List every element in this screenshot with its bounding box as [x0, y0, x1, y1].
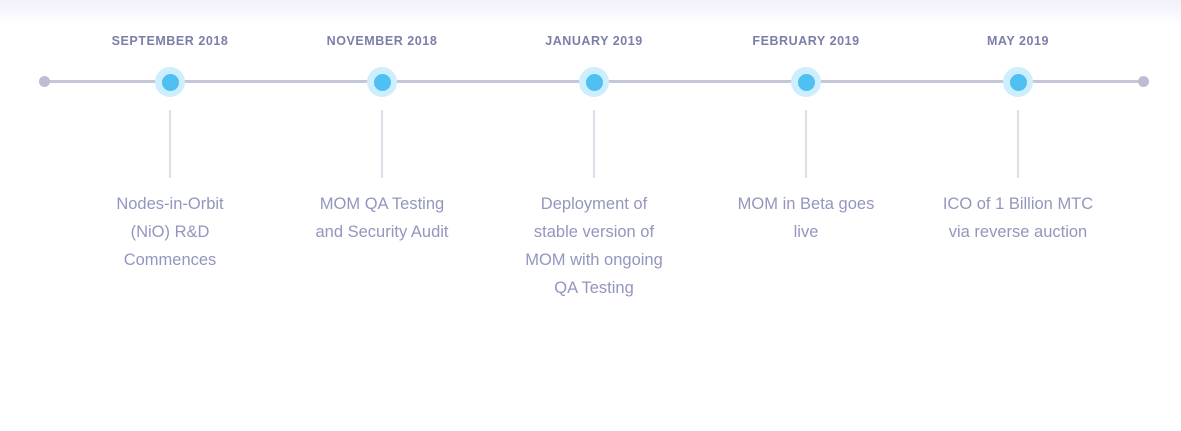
- milestone-description-line: MOM with ongoing: [494, 246, 694, 274]
- milestone-description: Nodes-in-Orbit(NiO) R&DCommences: [64, 190, 276, 274]
- milestone-description: MOM QA Testingand Security Audit: [276, 190, 488, 246]
- milestone-date: MAY 2019: [912, 34, 1124, 48]
- milestone-node-core-icon: [798, 74, 815, 91]
- milestone-node-icon[interactable]: [579, 67, 609, 97]
- roadmap-timeline: SEPTEMBER 2018Nodes-in-Orbit(NiO) R&DCom…: [0, 0, 1181, 431]
- milestone-connector: [381, 110, 383, 178]
- milestone-node-core-icon: [162, 74, 179, 91]
- milestone-node-icon[interactable]: [791, 67, 821, 97]
- milestone-description-line: ICO of 1 Billion MTC: [918, 190, 1118, 218]
- milestone-connector: [805, 110, 807, 178]
- milestone-connector: [593, 110, 595, 178]
- milestone-connector: [1017, 110, 1019, 178]
- milestone-description-line: stable version of: [494, 218, 694, 246]
- milestone-date: FEBRUARY 2019: [700, 34, 912, 48]
- top-gradient-band: [0, 0, 1181, 26]
- milestone-description: Deployment ofstable version ofMOM with o…: [488, 190, 700, 302]
- milestone-description-line: Deployment of: [494, 190, 694, 218]
- milestone-description-line: (NiO) R&D: [70, 218, 270, 246]
- milestone-description-line: live: [706, 218, 906, 246]
- milestone-node-core-icon: [374, 74, 391, 91]
- milestone-node-icon[interactable]: [155, 67, 185, 97]
- milestone-node-icon[interactable]: [1003, 67, 1033, 97]
- timeline-start-cap-icon: [39, 76, 50, 87]
- milestone-description-line: QA Testing: [494, 274, 694, 302]
- milestone-description-line: via reverse auction: [918, 218, 1118, 246]
- timeline-end-cap-icon: [1138, 76, 1149, 87]
- milestone-date: JANUARY 2019: [488, 34, 700, 48]
- milestone-date: NOVEMBER 2018: [276, 34, 488, 48]
- milestone-node-core-icon: [586, 74, 603, 91]
- milestone-description-line: Nodes-in-Orbit: [70, 190, 270, 218]
- milestone-node-icon[interactable]: [367, 67, 397, 97]
- milestone-node-core-icon: [1010, 74, 1027, 91]
- milestone-description-line: Commences: [70, 246, 270, 274]
- milestone-description: MOM in Beta goeslive: [700, 190, 912, 246]
- milestone-description-line: and Security Audit: [282, 218, 482, 246]
- milestone-date: SEPTEMBER 2018: [64, 34, 276, 48]
- milestone-description-line: MOM QA Testing: [282, 190, 482, 218]
- milestone-description: ICO of 1 Billion MTCvia reverse auction: [912, 190, 1124, 246]
- milestone-connector: [169, 110, 171, 178]
- milestone-description-line: MOM in Beta goes: [706, 190, 906, 218]
